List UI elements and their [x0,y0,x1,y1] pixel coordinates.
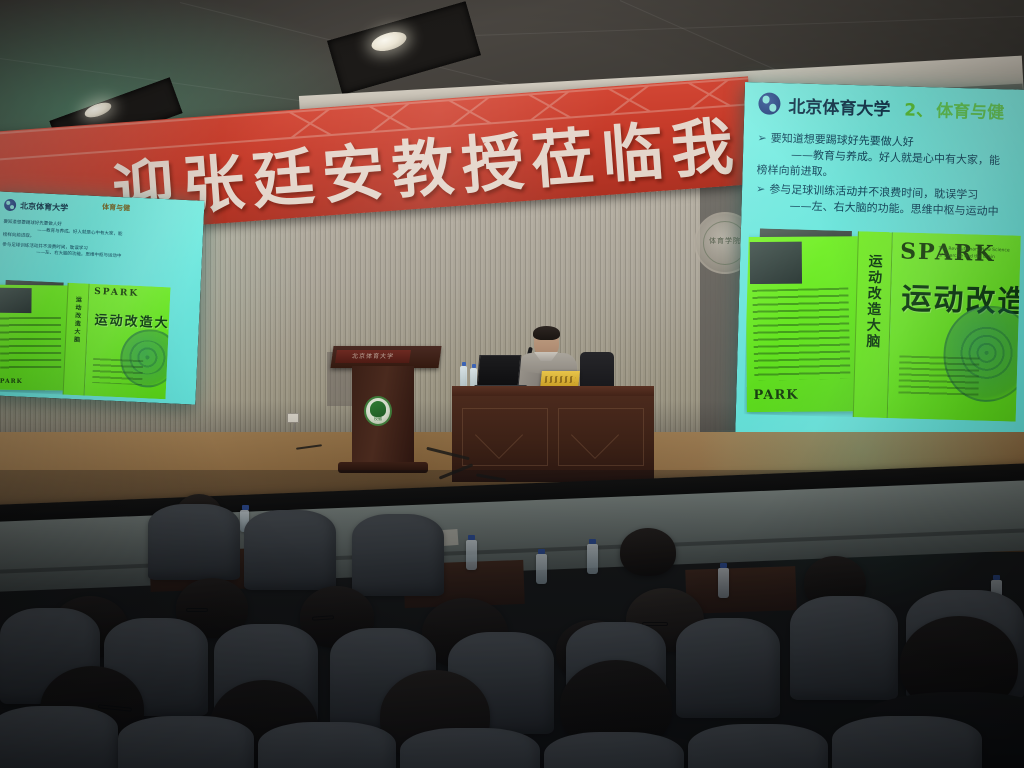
bsu-logo-icon [758,92,781,115]
book-credits-lines [899,355,979,398]
book-back-cover: PARK [746,237,859,413]
laptop-screen [477,355,522,387]
book-back-logo: PARK [0,378,23,385]
book-back-logo: PARK [753,388,798,403]
auditorium-seat [118,716,254,768]
book-subtitle-en: The Revolutionary New Science of Exercis… [938,246,1010,261]
lectern-plate-text: 北京体育大学 [336,351,411,360]
slide-section-number: 2、 [904,95,934,121]
front-row-table [685,566,796,614]
slide-section-title: 体育与健 [936,96,1005,123]
book-title-cn: 运动改造大脑 [94,309,170,332]
book-front-cover: SPARK 运动改造大脑 [85,284,171,400]
auditorium-seat [688,724,828,768]
auditorium-seat [258,722,396,768]
bullet-marker-icon: ➢ [757,131,767,144]
book-title-en: SPARK [94,287,139,299]
book-spine: 运动改造大脑 [853,231,894,418]
slide-org-name: 北京体育大学 [788,92,891,120]
emblem-label: 校徽 [366,416,390,422]
book-back-cover: PARK [0,285,67,391]
auditorium-seat [832,716,982,768]
book-credits-lines [92,358,143,385]
slide-section-heading: 体育与健 [102,202,130,213]
book-back-text-lines [752,288,850,381]
auditorium-seat [544,732,684,768]
slide-bullets-left: 要知道想要踢球好先要做人好 ——教育与养成。好人就是心中有大家，能 榜样向前进取… [2,220,205,265]
row-water-bottle [718,568,729,598]
university-emblem-icon: 校徽 [364,396,392,426]
slide-header-right: 北京体育大学 2、 体育与健 [758,90,1024,124]
lecture-hall-photo: 体育学院 迎张廷安教授莅临我 [0,0,1024,768]
bullet-marker-icon: ➢ [756,182,766,195]
projection-screen-left: 北京体育大学 体育与健 要知道想要踢球好先要做人好 ——教育与养成。好人就是心中… [0,191,205,404]
audience-head [620,528,676,576]
auditorium-seat [0,706,118,768]
book-spine-title: 运动改造大脑 [862,254,885,351]
book-spine-title: 运动改造大脑 [71,296,82,344]
slide-org-name: 北京体育大学 [20,200,68,213]
bsu-logo-icon [4,199,17,212]
row-water-bottle [536,554,547,584]
book-back-photo [0,288,32,314]
auditorium-seat [244,510,336,590]
auditorium-seat [148,504,240,580]
projection-screen-right: 北京体育大学 2、 体育与健 ➢要知道想要踢球好先要做人好 ——教育与养成。好人… [735,82,1024,448]
row-water-bottle [466,540,477,570]
eyeglasses-icon [186,608,208,612]
auditorium-seat [352,514,444,596]
auditorium-seat [400,728,540,768]
presenter-hair [533,326,560,340]
lectern-name-plate: 北京体育大学 [335,350,411,363]
book-front-cover: SPARK The Revolutionary New Science of E… [888,232,1021,421]
auditorium-seat [676,618,780,718]
slide-left: 北京体育大学 体育与健 要知道想要踢球好先要做人好 ——教育与养成。好人就是心中… [0,191,205,404]
audience-area: Real Madrid [0,470,1024,768]
emblem-inner-shape [370,401,386,417]
slide-right: 北京体育大学 2、 体育与健 ➢要知道想要踢球好先要做人好 ——教育与养成。好人… [735,82,1024,448]
slide-book-image-left: PARK 运动改造大脑 SPARK 运动改造大脑 [0,280,171,400]
slide-bullet-text: 要知道想要踢球好先要做人好 [771,132,914,149]
slide-bullets-right: ➢要知道想要踢球好先要做人好 ——教育与养成。好人就是心中有大家，能 榜样向前进… [755,130,1024,221]
book-back-photo [750,242,802,284]
row-water-bottle [587,544,598,574]
book-back-text-lines [0,317,61,372]
auditorium-seat [790,596,898,700]
slide-book-image-right: PARK 运动改造大脑 SPARK The Revolutionary New … [744,228,1021,422]
